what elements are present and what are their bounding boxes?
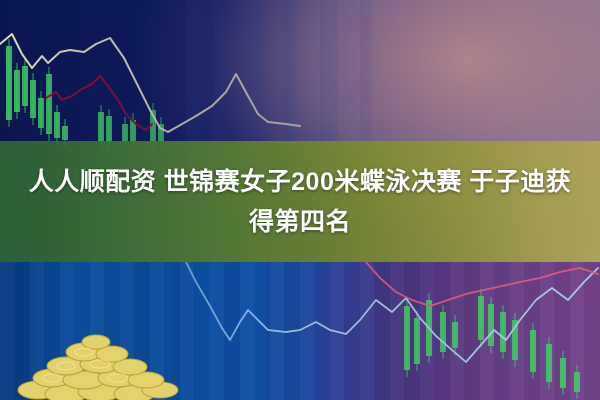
gold-coins-pile-icon <box>8 330 183 400</box>
news-banner-image: 人人顺配资 世锦赛女子200米蝶泳决赛 于子迪获 得第四名 <box>0 0 600 400</box>
headline-block: 人人顺配资 世锦赛女子200米蝶泳决赛 于子迪获 得第四名 <box>0 141 600 262</box>
candlestick-wick <box>502 305 503 359</box>
candlestick-wick <box>514 313 515 367</box>
candlestick-wick <box>490 297 491 353</box>
candlestick-wick <box>532 323 533 379</box>
candlestick-wick <box>576 365 577 399</box>
candlestick-wick <box>442 305 443 359</box>
candlestick-wick <box>480 289 481 347</box>
headline-line-2: 得第四名 <box>249 205 351 239</box>
candlestick-wick <box>406 299 407 377</box>
candlestick-wick <box>562 351 563 395</box>
candlestick-wick <box>548 337 549 389</box>
candlestick-wick <box>416 311 417 371</box>
bottom-chart-content <box>150 250 598 400</box>
headline-line-1: 人人顺配资 世锦赛女子200米蝶泳决赛 于子迪获 <box>29 165 572 199</box>
candlestick-wick <box>454 315 455 355</box>
